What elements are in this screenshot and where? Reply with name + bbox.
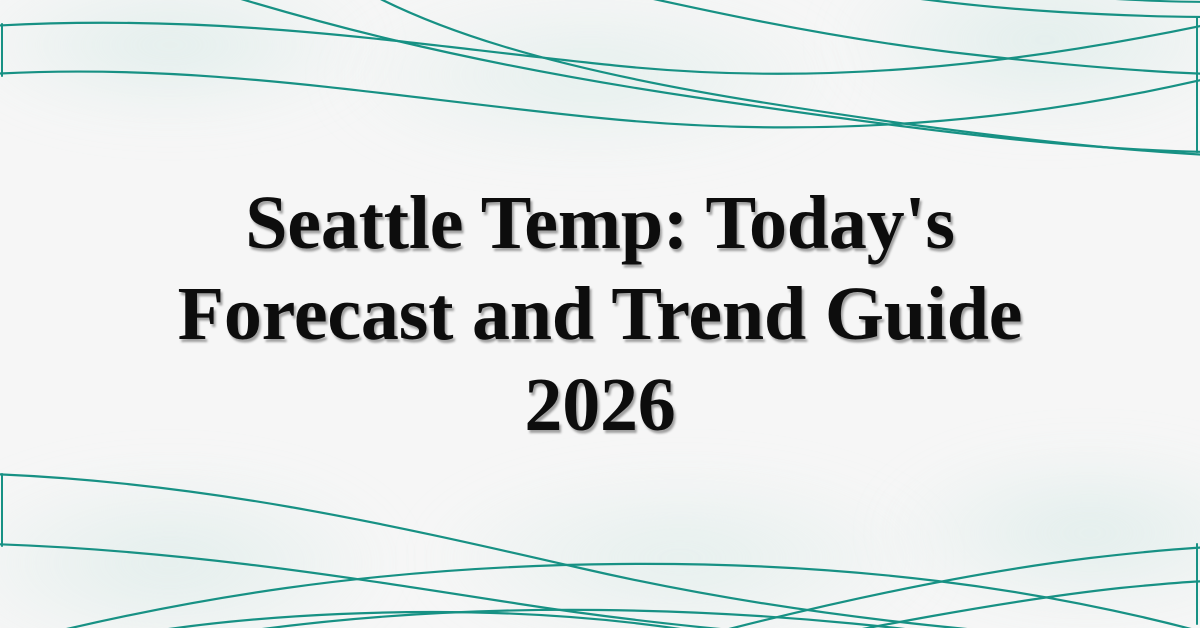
share-banner: Seattle Temp: Today's Forecast and Trend…: [0, 0, 1200, 628]
title-block: Seattle Temp: Today's Forecast and Trend…: [0, 0, 1200, 628]
page-title: Seattle Temp: Today's Forecast and Trend…: [60, 178, 1140, 451]
